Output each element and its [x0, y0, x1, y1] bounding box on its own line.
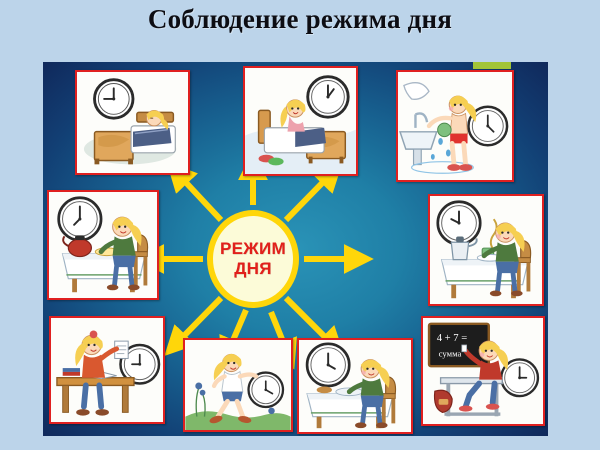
blackboard-equation: 4 + 7 =: [437, 333, 468, 344]
arrow-up-left: [178, 174, 221, 220]
card-supper[interactable]: Ужин — девочка пьёт чай за столом: [428, 194, 544, 306]
card-school[interactable]: 4 + 7 = сумма: [421, 316, 545, 426]
card-breakfast[interactable]: Завтрак — девочка завтракает за столом: [47, 190, 159, 300]
diagram-panel: РЕЖИМ ДНЯ: [43, 62, 548, 436]
card-walk[interactable]: Прогулка — девочка гуляет на улице: [183, 338, 293, 432]
center-node[interactable]: РЕЖИМ ДНЯ: [207, 210, 299, 308]
center-node-line1: РЕЖИМ: [220, 239, 286, 259]
page-title: Соблюдение режима дня: [0, 4, 600, 35]
card-homework[interactable]: Домашнее задание — девочка за письменным…: [49, 316, 165, 424]
card-waking-up[interactable]: Подъём — девочка просыпается и потягивае…: [243, 66, 358, 176]
svg-text:сумма: сумма: [439, 349, 462, 359]
card-lunch[interactable]: Обед — девочка обедает за столом: [297, 338, 413, 434]
card-washing[interactable]: Умывание — девочка умывается у раковины: [396, 70, 514, 182]
arrow-up-right: [286, 174, 331, 220]
center-node-line2: ДНЯ: [234, 259, 272, 279]
card-sleeping[interactable]: Сон — девочка спит в кровати, часы на ст…: [75, 70, 190, 175]
